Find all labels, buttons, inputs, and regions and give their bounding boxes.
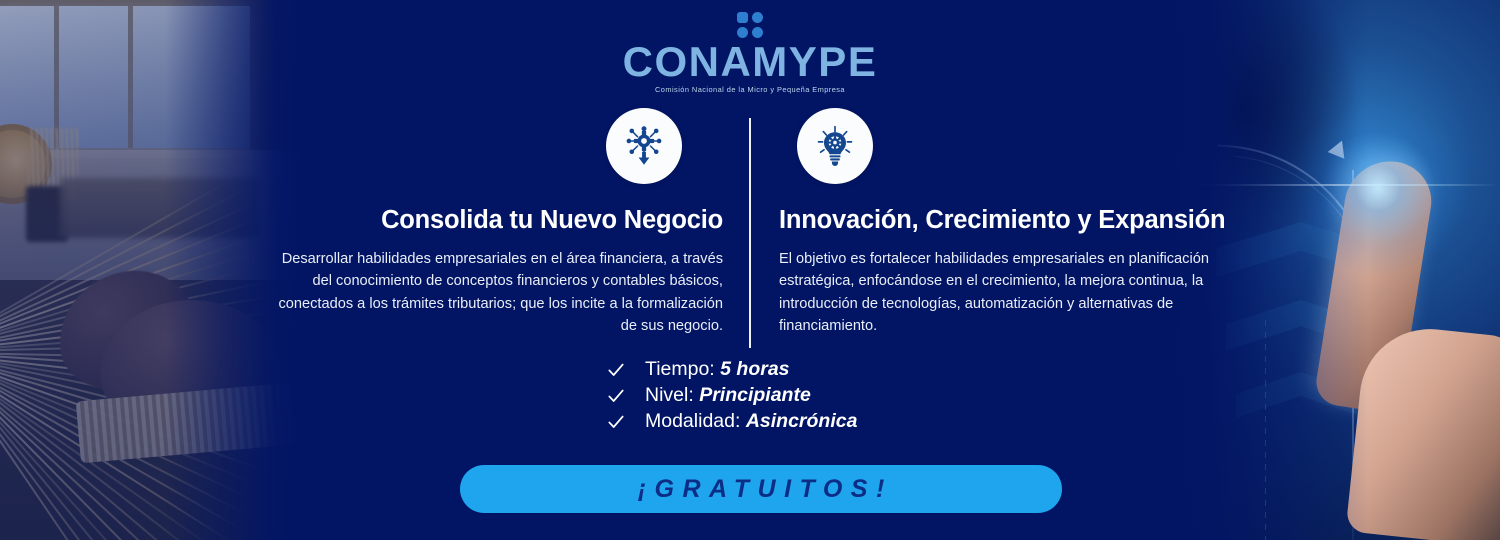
detail-value: Asincrónica xyxy=(746,410,858,432)
lightbulb-gear-idea-icon xyxy=(797,108,873,184)
check-icon xyxy=(605,359,627,381)
gratuitos-cta-button[interactable]: ¡GRATUITOS! xyxy=(460,465,1062,513)
column-body: El objetivo es fortalecer habilidades em… xyxy=(779,248,1229,337)
banner-content: CONAMYPE Comisión Nacional de la Micro y… xyxy=(265,0,1235,540)
conamype-logo: CONAMYPE Comisión Nacional de la Micro y… xyxy=(265,12,1235,94)
detail-value: 5 horas xyxy=(720,358,789,380)
logo-dot xyxy=(737,12,748,23)
list-item: Nivel: Principiante xyxy=(605,384,895,407)
brand-tagline: Comisión Nacional de la Micro y Pequeña … xyxy=(265,85,1235,94)
column-heading: Consolida tu Nuevo Negocio xyxy=(265,206,723,235)
brand-wordmark: CONAMYPE xyxy=(265,40,1235,84)
check-icon xyxy=(605,411,627,433)
left-photo-fade xyxy=(0,0,300,540)
conamype-course-banner: CONAMYPE Comisión Nacional de la Micro y… xyxy=(0,0,1500,540)
course-columns: Consolida tu Nuevo Negocio Desarrollar h… xyxy=(265,108,1235,337)
conamype-dots-logo-icon xyxy=(737,12,763,38)
list-item: Tiempo: 5 horas xyxy=(605,358,895,381)
left-photo-artisan-weaving xyxy=(0,0,300,540)
detail-text: Tiempo: 5 horas xyxy=(645,358,790,381)
cta-label: ¡GRATUITOS! xyxy=(629,475,893,504)
detail-text: Modalidad: Asincrónica xyxy=(645,410,857,433)
column-innovacion: Innovación, Crecimiento y Expansión El o… xyxy=(749,108,1235,337)
detail-value: Principiante xyxy=(699,384,811,406)
detail-text: Nivel: Principiante xyxy=(645,384,811,407)
logo-dot xyxy=(737,27,748,38)
logo-dot xyxy=(752,12,763,23)
column-consolida: Consolida tu Nuevo Negocio Desarrollar h… xyxy=(265,108,749,337)
column-heading: Innovación, Crecimiento y Expansión xyxy=(779,206,1235,235)
logo-dot xyxy=(752,27,763,38)
list-item: Modalidad: Asincrónica xyxy=(605,410,895,433)
column-body: Desarrollar habilidades empresariales en… xyxy=(275,248,723,337)
detail-label: Modalidad: xyxy=(645,410,740,432)
detail-label: Nivel: xyxy=(645,384,694,406)
network-gear-download-icon xyxy=(606,108,682,184)
course-details-list: Tiempo: 5 horas Nivel: Principiante Moda… xyxy=(265,358,1235,436)
check-icon xyxy=(605,385,627,407)
detail-label: Tiempo: xyxy=(645,358,715,380)
